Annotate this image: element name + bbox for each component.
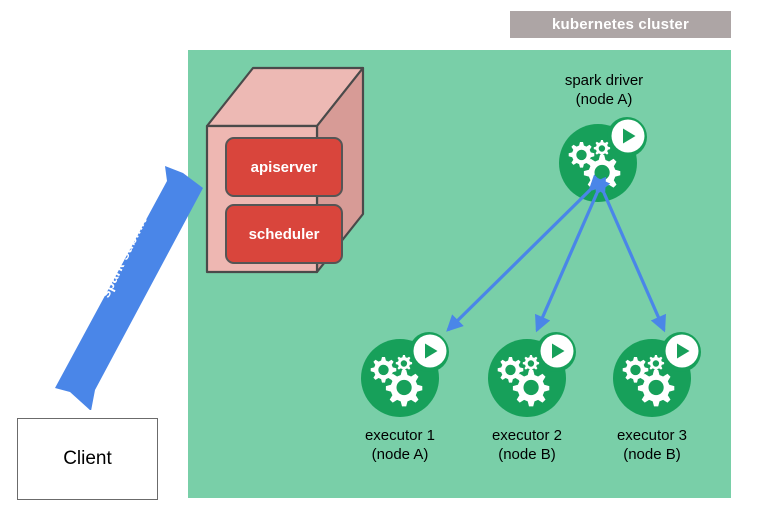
executor-3-label-line2: (node B) xyxy=(596,445,708,464)
kubernetes-control-plane-cube: apiserver scheduler xyxy=(205,66,365,276)
spark-driver-node[interactable]: spark driver (node A) xyxy=(556,115,652,203)
spark-submit-arrow-icon xyxy=(55,160,220,410)
apiserver-box[interactable]: apiserver xyxy=(225,137,343,197)
spark-driver-icon xyxy=(556,115,652,203)
spark-submit-arrow xyxy=(55,160,220,410)
executor-1-icon xyxy=(358,330,454,418)
executor-3-label-line1: executor 3 xyxy=(596,426,708,445)
executor-2-label: executor 2 (node B) xyxy=(471,426,583,464)
executor-1-label-line1: executor 1 xyxy=(344,426,456,445)
executor-1-label: executor 1 (node A) xyxy=(344,426,456,464)
executor-3-node[interactable]: executor 3 (node B) xyxy=(610,330,706,418)
executor-2-icon xyxy=(485,330,581,418)
diagram-canvas: kubernetes cluster apiserver scheduler xyxy=(0,0,761,516)
spark-driver-label-line1: spark driver xyxy=(548,71,660,90)
executor-2-node[interactable]: executor 2 (node B) xyxy=(485,330,581,418)
executor-3-label: executor 3 (node B) xyxy=(596,426,708,464)
executor-3-icon xyxy=(610,330,706,418)
executor-2-label-line2: (node B) xyxy=(471,445,583,464)
client-box[interactable]: Client xyxy=(17,418,158,500)
executor-1-node[interactable]: executor 1 (node A) xyxy=(358,330,454,418)
spark-driver-label-line2: (node A) xyxy=(548,90,660,109)
executor-1-label-line2: (node A) xyxy=(344,445,456,464)
scheduler-box[interactable]: scheduler xyxy=(225,204,343,264)
executor-2-label-line1: executor 2 xyxy=(471,426,583,445)
spark-driver-label: spark driver (node A) xyxy=(548,71,660,109)
kubernetes-cluster-label: kubernetes cluster xyxy=(510,11,731,38)
